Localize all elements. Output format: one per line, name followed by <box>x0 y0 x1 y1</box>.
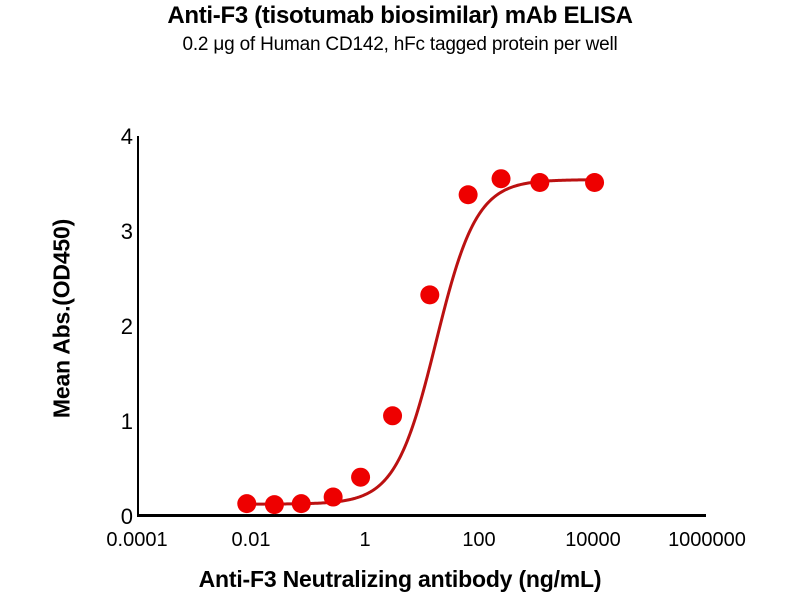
xtick-label-1: 1 <box>359 530 370 550</box>
ytick-label-4: 4 <box>103 126 133 148</box>
data-point <box>324 488 343 507</box>
data-point-markers <box>237 169 604 514</box>
xtick-label-1000000: 1000000 <box>668 530 746 550</box>
data-point <box>585 173 604 192</box>
data-point <box>265 495 284 514</box>
data-point <box>351 468 370 487</box>
figure-root: Anti-F3 (tisotumab biosimilar) mAb ELISA… <box>0 0 800 600</box>
xtick-label-10000: 10000 <box>565 530 621 550</box>
ytick-label-2: 2 <box>103 316 133 338</box>
data-point <box>292 494 311 513</box>
data-point <box>420 285 439 304</box>
data-point <box>492 169 511 188</box>
y-axis-title: Mean Abs.(OD450) <box>49 169 76 469</box>
sigmoid-fit-curve <box>247 180 595 504</box>
data-point <box>530 173 549 192</box>
chart-subtitle: 0.2 μg of Human CD142, hFc tagged protei… <box>0 34 800 56</box>
data-point <box>383 406 402 425</box>
plot-svg <box>137 136 706 517</box>
ytick-label-3: 3 <box>103 221 133 243</box>
xtick-label-0001: 0.0001 <box>106 530 167 550</box>
xtick-label-100: 100 <box>462 530 495 550</box>
data-point <box>459 185 478 204</box>
data-point <box>237 494 256 513</box>
ytick-label-1: 1 <box>103 411 133 433</box>
ytick-label-0: 0 <box>103 506 133 528</box>
plot-area <box>137 136 706 517</box>
chart-title: Anti-F3 (tisotumab biosimilar) mAb ELISA <box>0 2 800 30</box>
xtick-label-001: 0.01 <box>232 530 271 550</box>
x-axis-title: Anti-F3 Neutralizing antibody (ng/mL) <box>0 566 800 593</box>
axis-lines <box>137 136 706 517</box>
